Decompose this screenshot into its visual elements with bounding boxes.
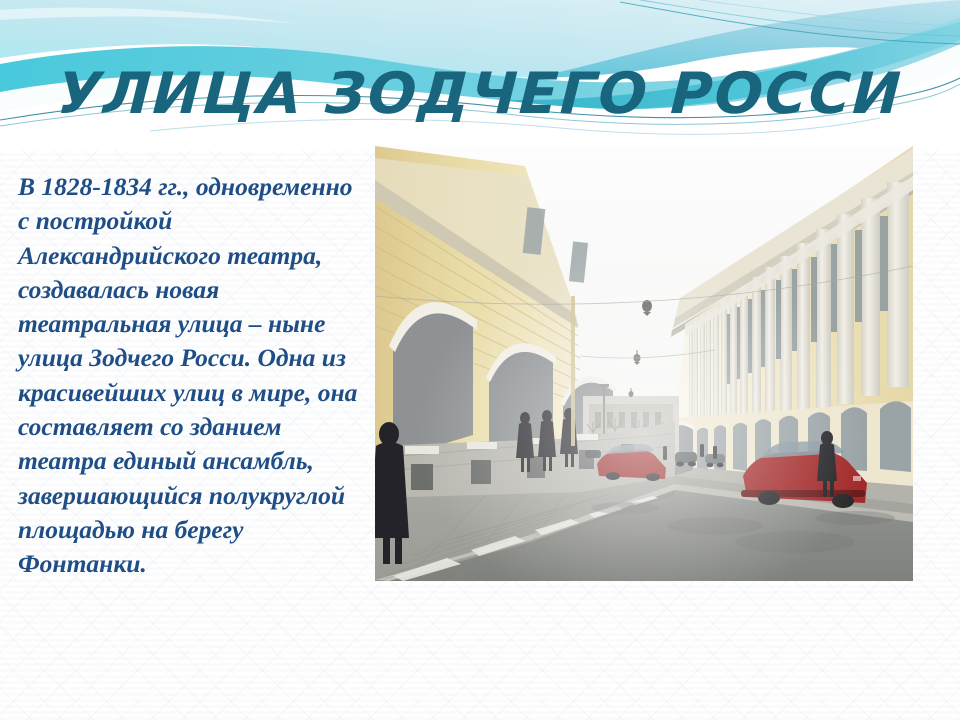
street-photograph (375, 146, 913, 581)
slide-title: УЛИЦА ЗОДЧЕГО РОССИ (0, 66, 960, 123)
presentation-slide: УЛИЦА ЗОДЧЕГО РОССИ В 1828-1834 гг., одн… (0, 0, 960, 720)
slide-body-paragraph: В 1828-1834 гг., одновременно с постройк… (18, 170, 366, 582)
